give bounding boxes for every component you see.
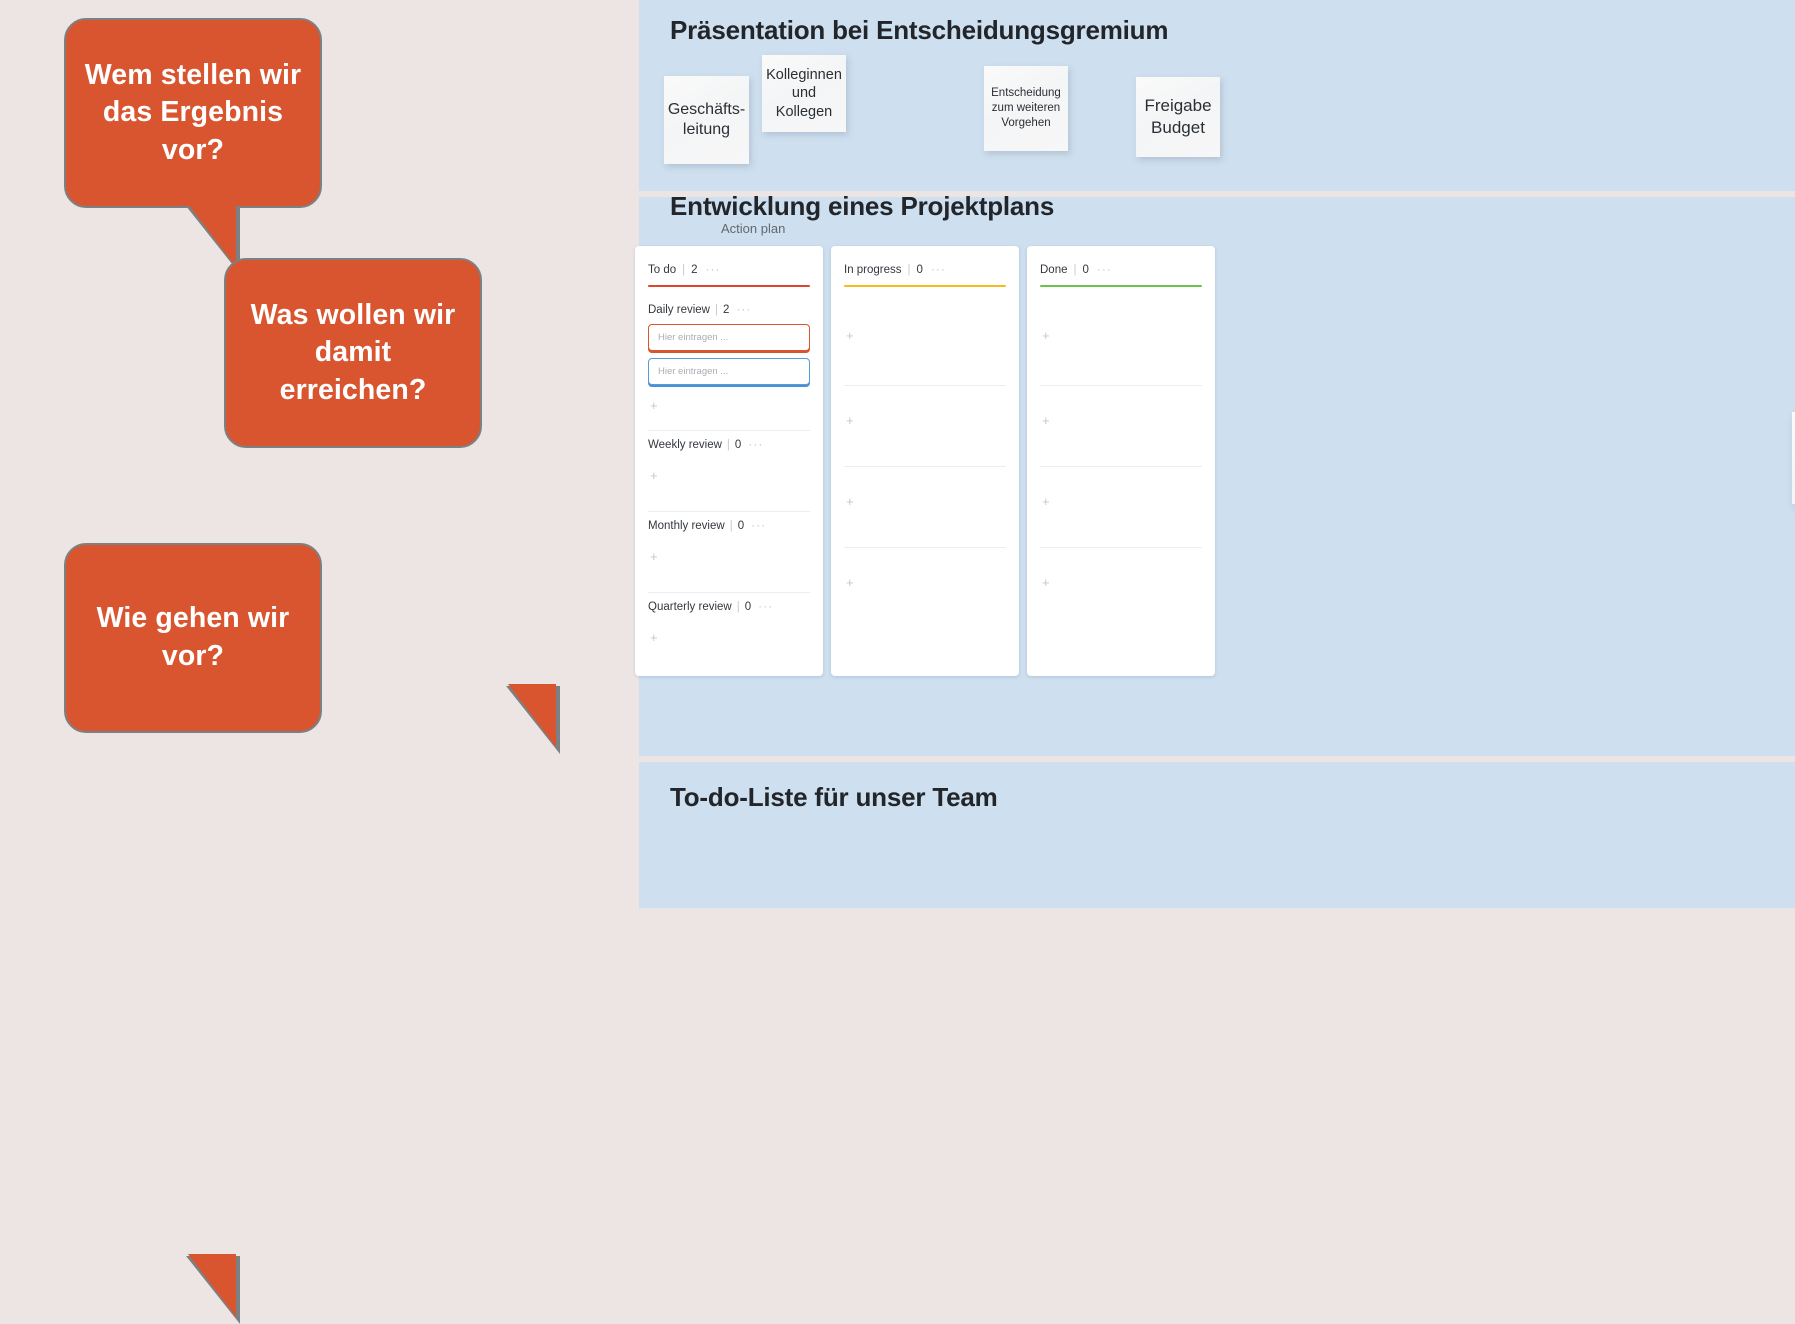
sticky-geschaeftsleitung[interactable]: Geschäfts-leitung: [664, 76, 749, 164]
add-card-inprogress-4-icon[interactable]: +: [844, 548, 1006, 601]
column-todo-menu-icon[interactable]: ···: [706, 262, 721, 276]
column-todo[interactable]: To do | 2 ··· Daily review | 2 ···: [635, 246, 823, 676]
bubble-tail-fill-icon: [188, 1254, 236, 1317]
done-lane-4: +: [1040, 548, 1202, 601]
section-projectplan: Entwicklung eines Projektplans Action pl…: [639, 197, 1795, 756]
column-done-accent: [1040, 285, 1202, 287]
column-done-separator: |: [1074, 264, 1077, 276]
presentation-title: Präsentation bei Entscheidungsgremium: [670, 15, 1168, 46]
swimlane-weekly-review-title: Weekly review: [648, 439, 722, 451]
column-done-header: Done | 0 ···: [1040, 262, 1202, 276]
swimlane-monthly-review-title: Monthly review: [648, 520, 725, 532]
done-lane-3: +: [1040, 467, 1202, 548]
card-input-orange-placeholder: Hier eintragen ...: [658, 332, 728, 343]
projectplan-title: Entwicklung eines Projektplans: [670, 191, 1054, 222]
section-presentation: Präsentation bei Entscheidungsgremium Ge…: [639, 0, 1795, 191]
add-card-done-3-icon[interactable]: +: [1040, 467, 1202, 538]
column-done[interactable]: Done | 0 ··· + + +: [1027, 246, 1215, 676]
column-done-title: Done: [1040, 264, 1068, 276]
bubble-was[interactable]: Was wollen wir damit erreichen?: [224, 258, 482, 448]
swimlane-daily-review-header: Daily review | 2 ···: [648, 296, 810, 316]
swimlane-monthly-review-menu-icon[interactable]: ···: [751, 518, 766, 532]
done-lane-1: +: [1040, 296, 1202, 386]
add-card-done-4-icon[interactable]: +: [1040, 548, 1202, 601]
swimlane-weekly-review-count: 0: [735, 439, 741, 451]
sticky-kolleginnen-text: Kolleginnen und Kollegen: [766, 66, 842, 122]
swimlane-weekly-review-header: Weekly review | 0 ···: [648, 431, 810, 451]
add-card-done-2-icon[interactable]: +: [1040, 386, 1202, 457]
card-input-orange[interactable]: Hier eintragen ...: [648, 324, 810, 351]
add-card-inprogress-3-icon[interactable]: +: [844, 467, 1006, 538]
add-card-inprogress-2-icon[interactable]: +: [844, 386, 1006, 457]
swimlane-daily-review-separator: |: [715, 304, 718, 316]
column-inprogress-accent: [844, 285, 1006, 287]
inprogress-lane-4: +: [844, 548, 1006, 601]
section-todolist: To-do-Liste für unser Team: [639, 762, 1795, 908]
column-todo-title: To do: [648, 264, 676, 276]
add-card-monthly-review-icon[interactable]: +: [648, 532, 810, 583]
bubble-wie-text: Wie gehen wir vor?: [66, 600, 320, 675]
column-inprogress-count: 0: [917, 264, 923, 276]
swimlane-weekly-review: Weekly review | 0 ··· +: [648, 431, 810, 512]
column-done-menu-icon[interactable]: ···: [1097, 262, 1112, 276]
swimlane-quarterly-review-header: Quarterly review | 0 ···: [648, 593, 810, 613]
screenshot-canvas: Wem stellen wir das Ergebnis vor? Was wo…: [0, 0, 1795, 908]
bubble-tail-fill-icon: [508, 684, 556, 747]
kanban-board: To do | 2 ··· Daily review | 2 ···: [635, 246, 1215, 676]
swimlane-weekly-review-menu-icon[interactable]: ···: [748, 437, 763, 451]
swimlane-quarterly-review-count: 0: [745, 601, 751, 613]
column-inprogress-menu-icon[interactable]: ···: [931, 262, 946, 276]
done-lane-2: +: [1040, 386, 1202, 467]
column-inprogress-title: In progress: [844, 264, 902, 276]
bubble-wie[interactable]: Wie gehen wir vor?: [64, 543, 322, 733]
column-done-count: 0: [1083, 264, 1089, 276]
bubble-tail-fill-icon: [188, 204, 236, 267]
column-todo-count: 2: [691, 264, 697, 276]
swimlane-weekly-review-separator: |: [727, 439, 730, 451]
right-panel: Präsentation bei Entscheidungsgremium Ge…: [639, 0, 1795, 908]
card-input-blue[interactable]: Hier eintragen ...: [648, 358, 810, 385]
swimlane-quarterly-review-menu-icon[interactable]: ···: [758, 599, 773, 613]
swimlane-daily-review-menu-icon[interactable]: ···: [736, 302, 751, 316]
swimlane-daily-review-count: 2: [723, 304, 729, 316]
swimlane-monthly-review-separator: |: [730, 520, 733, 532]
todolist-title: To-do-Liste für unser Team: [670, 782, 998, 813]
sticky-freigabe-text: Freigabe Budget: [1140, 95, 1216, 139]
add-card-daily-review-icon[interactable]: +: [648, 392, 810, 421]
add-card-weekly-review-icon[interactable]: +: [648, 451, 810, 502]
swimlane-monthly-review-count: 0: [738, 520, 744, 532]
add-card-done-1-icon[interactable]: +: [1040, 296, 1202, 376]
swimlane-monthly-review: Monthly review | 0 ··· +: [648, 512, 810, 593]
swimlane-quarterly-review-title: Quarterly review: [648, 601, 732, 613]
column-todo-accent: [648, 285, 810, 287]
swimlane-daily-review-title: Daily review: [648, 304, 710, 316]
add-card-quarterly-review-icon[interactable]: +: [648, 613, 810, 664]
sticky-entscheidung[interactable]: Entscheidung zum weiteren Vorgehen: [984, 66, 1068, 151]
bubble-wem-text: Wem stellen wir das Ergebnis vor?: [66, 57, 320, 170]
inprogress-lane-1: +: [844, 296, 1006, 386]
swimlane-daily-review: Daily review | 2 ··· Hier eintragen ... …: [648, 296, 810, 431]
bubble-was-text: Was wollen wir damit erreichen?: [226, 297, 480, 410]
sticky-geschaeftsleitung-text: Geschäfts-leitung: [668, 100, 745, 141]
card-input-blue-placeholder: Hier eintragen ...: [658, 366, 728, 377]
column-todo-separator: |: [682, 264, 685, 276]
sticky-freigabe[interactable]: Freigabe Budget: [1136, 77, 1220, 157]
add-card-inprogress-1-icon[interactable]: +: [844, 296, 1006, 376]
column-inprogress-header: In progress | 0 ···: [844, 262, 1006, 276]
swimlane-quarterly-review: Quarterly review | 0 ··· +: [648, 593, 810, 664]
column-inprogress[interactable]: In progress | 0 ··· + +: [831, 246, 1019, 676]
swimlane-daily-review-body: Hier eintragen ... Hier eintragen ... +: [648, 316, 810, 421]
column-inprogress-separator: |: [908, 264, 911, 276]
left-panel: Wem stellen wir das Ergebnis vor? Was wo…: [0, 0, 639, 908]
swimlane-quarterly-review-separator: |: [737, 601, 740, 613]
inprogress-lane-3: +: [844, 467, 1006, 548]
column-todo-header: To do | 2 ···: [648, 262, 810, 276]
sticky-kolleginnen[interactable]: Kolleginnen und Kollegen: [762, 55, 846, 132]
sticky-entscheidung-text: Entscheidung zum weiteren Vorgehen: [988, 86, 1064, 130]
swimlane-monthly-review-header: Monthly review | 0 ···: [648, 512, 810, 532]
board-label: Action plan: [721, 221, 785, 236]
inprogress-lane-2: +: [844, 386, 1006, 467]
bubble-wem[interactable]: Wem stellen wir das Ergebnis vor?: [64, 18, 322, 208]
